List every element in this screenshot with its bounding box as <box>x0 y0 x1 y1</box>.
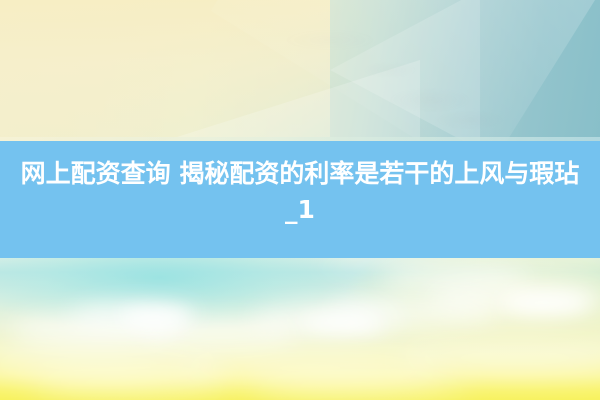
cloud-band-low <box>250 374 470 398</box>
title-banner: 网上配资查询 揭秘配资的利率是若干的上风与瑕玷 _1 <box>0 141 600 258</box>
cloud-puff-bright <box>500 292 590 314</box>
paper-texture-overlay <box>0 0 600 141</box>
banner-title-line-1: 网上配资查询 揭秘配资的利率是若干的上风与瑕玷 <box>0 155 600 193</box>
cloud-puff-bright <box>300 314 380 332</box>
cloud-puff-bright <box>120 308 190 328</box>
cloud-band-low <box>30 370 230 396</box>
banner-image: 网上配资查询 揭秘配资的利率是若干的上风与瑕玷 _1 <box>0 0 600 400</box>
top-gradient-panel <box>0 0 600 141</box>
banner-title-line-2: _1 <box>0 193 600 227</box>
sky-gradient-panel <box>0 258 600 400</box>
